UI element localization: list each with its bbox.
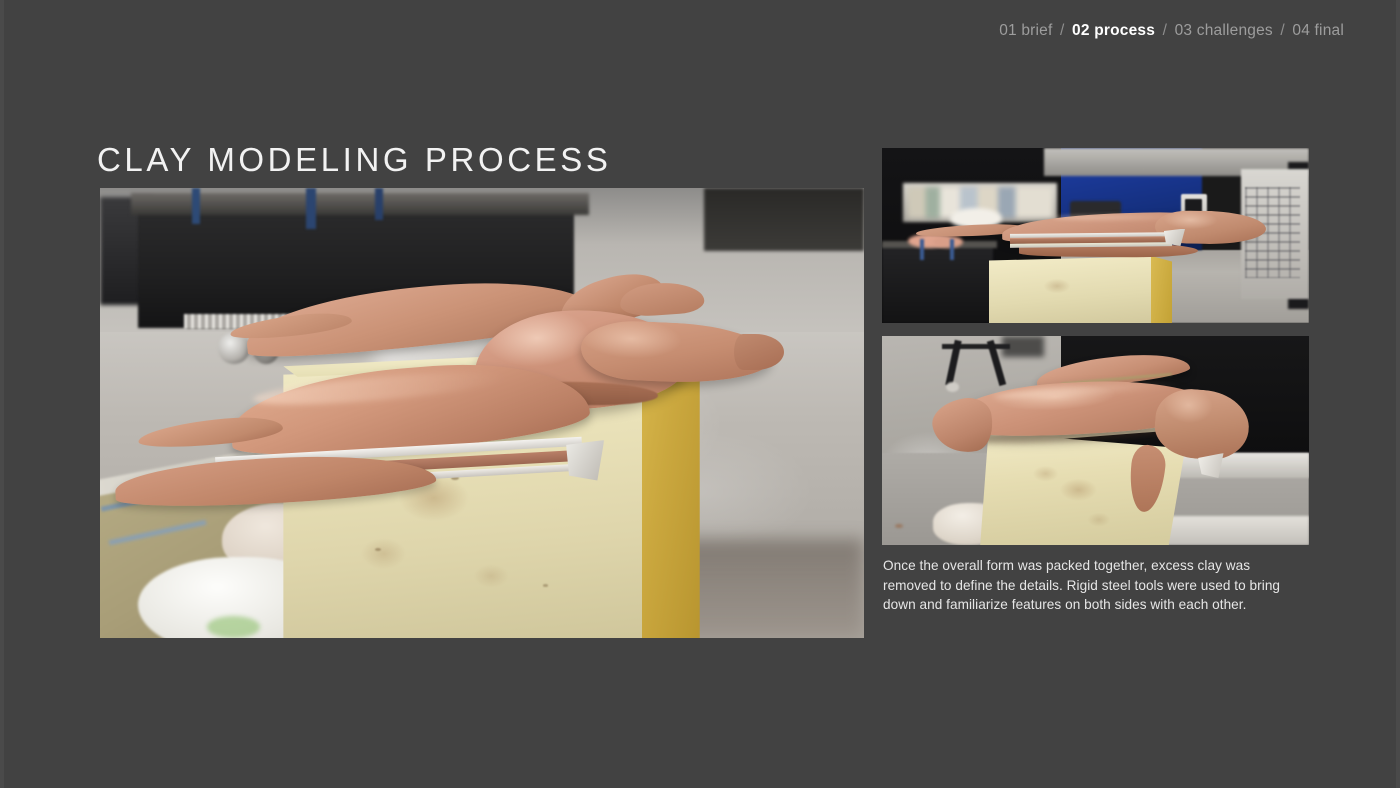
bench-clamp [375,188,383,220]
page-title: CLAY MODELING PROCESS [97,141,612,179]
presentation-slide: 01 brief / 02 process / 03 challenges / … [0,0,1400,788]
nav-item-brief[interactable]: 01 brief [999,22,1052,39]
main-photo-scene [100,188,864,638]
bench-clamp [192,188,200,224]
bench-clamp [950,239,953,260]
nav-item-challenges[interactable]: 03 challenges [1175,22,1273,39]
thumbnail-top-scene [882,148,1309,323]
thumbnail-bottom-scene [882,336,1309,545]
photo-caption: Once the overall form was packed togethe… [883,556,1303,615]
nav-separator: / [1277,22,1288,39]
thumbnail-photo-side-profile [882,148,1309,323]
spare-clay-lump [933,236,963,248]
thumbnail-photo-three-quarter [882,336,1309,545]
foam-block-front [989,257,1151,324]
foam-speck [543,584,548,587]
background-dark-panel [704,188,864,251]
bench-clamp [306,188,316,229]
nav-separator: / [1160,22,1171,39]
dark-workbench [882,244,993,323]
main-photo [100,188,864,638]
nav-separator: / [1057,22,1068,39]
nav-item-process[interactable]: 02 process [1072,22,1155,39]
nav-item-final[interactable]: 04 final [1292,22,1344,39]
section-navigation: 01 brief / 02 process / 03 challenges / … [999,22,1344,40]
bag-green-tint [207,616,260,639]
bench-clamp [920,239,923,260]
